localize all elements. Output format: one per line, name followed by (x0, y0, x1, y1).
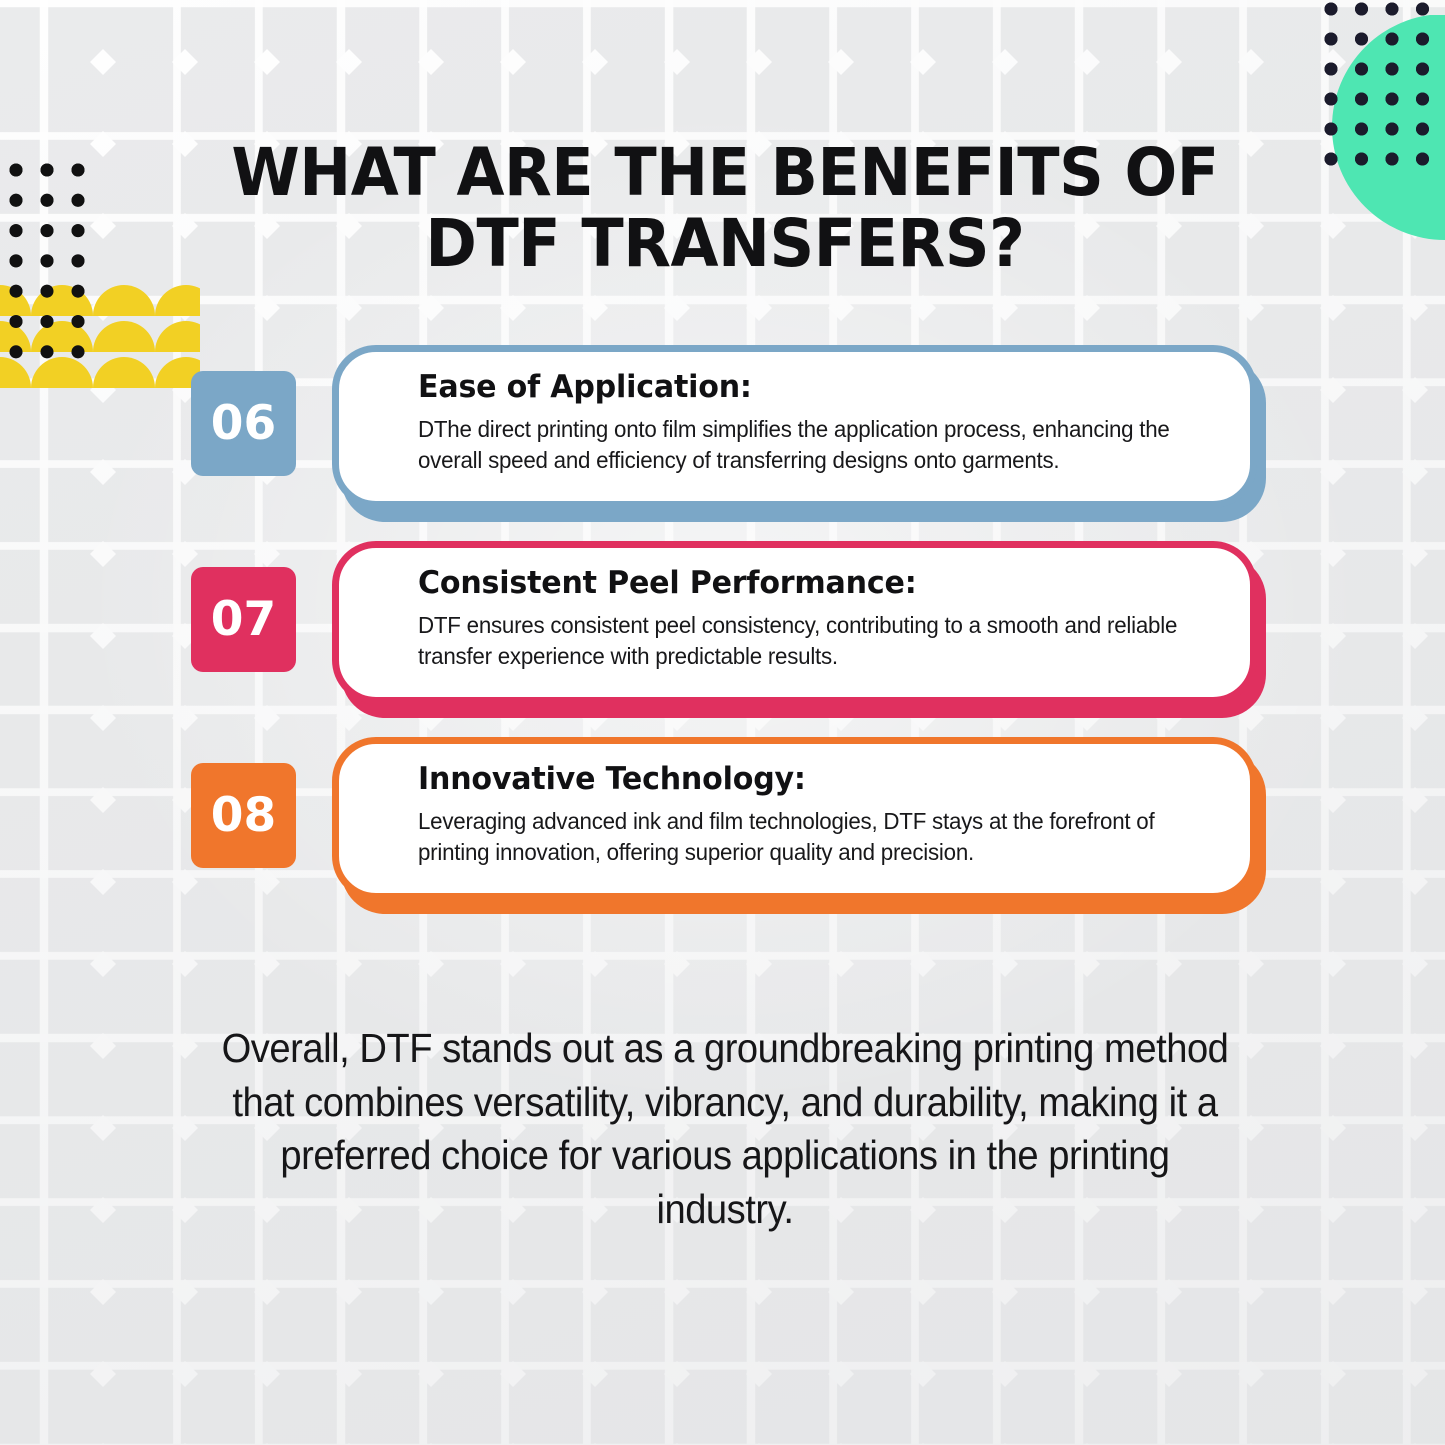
teal-circle-decoration (1325, 15, 1445, 255)
card-body: DTF ensures consistent peel consistency,… (418, 610, 1214, 671)
card-panel: Ease of Application: DThe direct printin… (332, 345, 1257, 508)
card-body: Leveraging advanced ink and film technol… (418, 806, 1214, 867)
dot-grid-top-right (1318, 0, 1445, 180)
benefit-card[interactable]: 07 Consistent Peel Performance: DTF ensu… (0, 541, 1445, 737)
infographic-poster: WHAT ARE THE BENEFITS OF DTF TRANSFERS? … (0, 0, 1445, 1445)
card-number-badge: 08 (191, 763, 296, 868)
card-panel-wrapper: Ease of Application: DThe direct printin… (332, 345, 1257, 520)
card-title: Consistent Peel Performance: (418, 565, 1192, 601)
card-panel-wrapper: Consistent Peel Performance: DTF ensures… (332, 541, 1257, 716)
page-title: WHAT ARE THE BENEFITS OF DTF TRANSFERS? (180, 138, 1270, 279)
dot-grid-top-right-overlay (1318, 0, 1445, 180)
card-title: Ease of Application: (418, 369, 1192, 405)
card-panel-wrapper: Innovative Technology: Leveraging advanc… (332, 737, 1257, 912)
card-panel: Innovative Technology: Leveraging advanc… (332, 737, 1257, 900)
card-number-badge: 06 (191, 371, 296, 476)
card-title: Innovative Technology: (418, 761, 1192, 797)
summary-paragraph: Overall, DTF stands out as a groundbreak… (218, 1022, 1232, 1237)
card-panel: Consistent Peel Performance: DTF ensures… (332, 541, 1257, 704)
card-body: DThe direct printing onto film simplifie… (418, 414, 1214, 475)
benefit-card[interactable]: 06 Ease of Application: DThe direct prin… (0, 345, 1445, 541)
card-number-badge: 07 (191, 567, 296, 672)
benefit-card-list: 06 Ease of Application: DThe direct prin… (0, 345, 1445, 933)
benefit-card[interactable]: 08 Innovative Technology: Leveraging adv… (0, 737, 1445, 933)
